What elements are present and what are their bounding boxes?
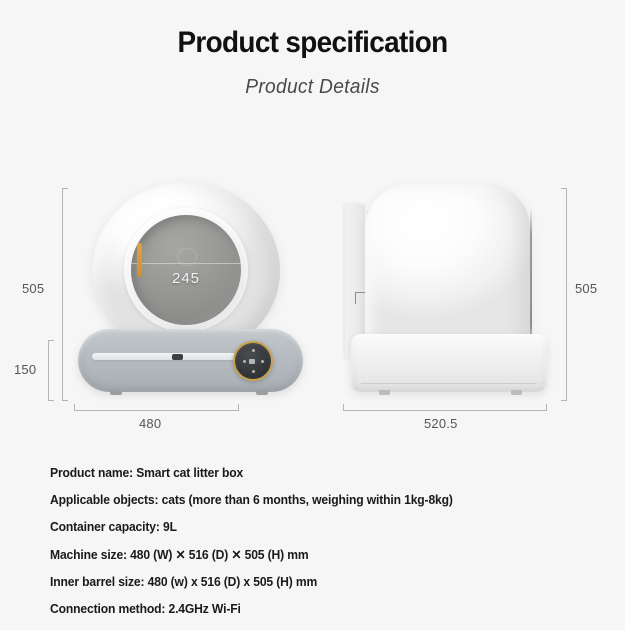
dimension-cap-side-height-top <box>561 188 567 189</box>
product-side-view <box>345 182 550 402</box>
dimension-cap-front-base-height-bottom <box>48 400 54 401</box>
specification-list: Product name: Smart cat litter box Appli… <box>50 466 595 629</box>
spec-line-applicable-objects: Applicable objects: cats (more than 6 mo… <box>50 493 579 507</box>
side-foot-left <box>379 390 390 395</box>
dimension-label-front-base-height: 150 <box>14 362 36 377</box>
dimension-cap-front-width-right <box>238 404 239 411</box>
dimension-line-front-width <box>74 410 239 411</box>
dimension-cap-front-base-height-top <box>48 340 54 341</box>
knob-indicator-icon-left <box>243 360 246 363</box>
side-base-pedestal <box>351 334 547 392</box>
dimension-label-front-width: 480 <box>139 416 161 431</box>
spec-line-container-capacity: Container capacity: 9L <box>50 520 579 534</box>
side-base-seam-line <box>361 383 537 384</box>
control-knob[interactable] <box>233 341 273 381</box>
dimension-label-front-height: 505 <box>22 281 44 296</box>
base-light-slot <box>92 353 240 360</box>
base-sensor-icon <box>172 354 183 360</box>
product-specification-page: Product specification Product Details 24… <box>0 0 625 630</box>
front-foot-right <box>256 390 268 395</box>
dimension-cap-side-depth-left <box>343 404 344 411</box>
dimension-line-side-depth <box>343 410 547 411</box>
dimension-line-front-height <box>62 188 63 400</box>
dimension-cap-side-depth-right <box>546 404 547 411</box>
side-foot-right <box>511 390 522 395</box>
front-foot-left <box>110 390 122 395</box>
product-front-view: 245 <box>78 182 303 402</box>
knob-indicator-icon-top <box>252 349 255 352</box>
dimension-cap-front-height-top <box>62 188 68 189</box>
spec-line-inner-barrel-size: Inner barrel size: 480 (w) x 516 (D) x 5… <box>50 575 579 589</box>
drum-display-value: 245 <box>131 270 241 287</box>
knob-indicator-icon-bottom <box>252 370 255 373</box>
page-header: Product specification Product Details <box>0 0 625 99</box>
page-title: Product specification <box>22 26 603 60</box>
dimension-cap-side-height-bottom <box>561 400 567 401</box>
knob-center-icon <box>249 359 255 364</box>
dimension-cap-front-width-left <box>74 404 75 411</box>
front-drum-opening: 245 <box>131 215 241 325</box>
spec-line-product-name: Product name: Smart cat litter box <box>50 466 579 480</box>
dimension-line-front-base-height <box>48 340 49 400</box>
dimension-label-side-depth: 520.5 <box>424 416 458 431</box>
dimension-cap-front-height-bottom <box>62 400 68 401</box>
spec-line-machine-size: Machine size: 480 (W) ✕ 516 (D) ✕ 505 (H… <box>50 547 579 562</box>
spec-line-connection-method: Connection method: 2.4GHz Wi-Fi <box>50 602 579 616</box>
product-figure-area: 245 <box>0 160 625 450</box>
dimension-line-side-height <box>566 188 567 400</box>
knob-indicator-icon-right <box>261 360 264 363</box>
dimension-label-side-height: 505 <box>575 281 597 296</box>
front-base-pedestal <box>78 329 303 392</box>
side-edge-right <box>530 210 532 350</box>
page-subtitle: Product Details <box>13 76 613 99</box>
